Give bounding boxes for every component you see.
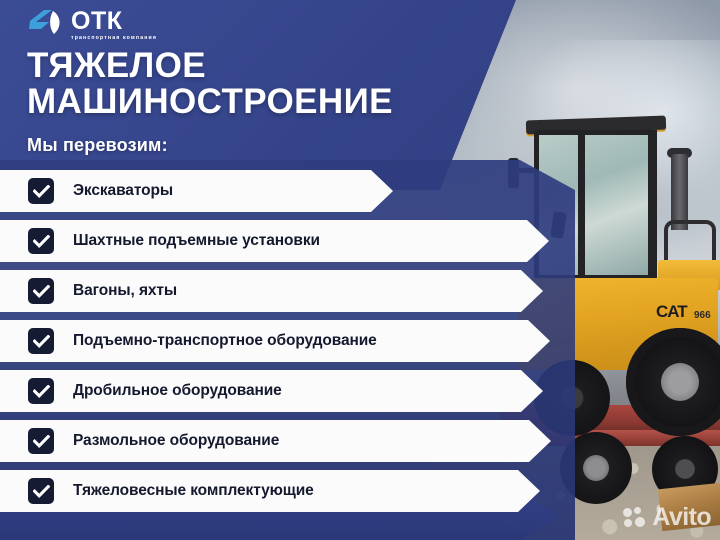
brand-tagline: транспортная компания xyxy=(71,35,157,41)
checklist-row[interactable]: Дробильное оборудование xyxy=(0,370,720,412)
headline-line-1: ТЯЖЕЛОЕ xyxy=(27,48,393,84)
checklist-row[interactable]: Размольное оборудование xyxy=(0,420,720,462)
check-mark-icon[interactable] xyxy=(28,278,54,304)
avito-wordmark: Avito xyxy=(652,505,711,530)
checklist-bar: Дробильное оборудование xyxy=(0,370,543,412)
checklist-label: Подъемно-транспортное оборудование xyxy=(73,332,377,350)
checklist-row[interactable]: Вагоны, яхты xyxy=(0,270,720,312)
checklist-row[interactable]: Тяжеловесные комплектующие xyxy=(0,470,720,512)
checklist-bar: Вагоны, яхты xyxy=(0,270,543,312)
checklist-label: Шахтные подъемные установки xyxy=(73,232,320,250)
otk-leaf-icon xyxy=(27,8,69,38)
checklist-label: Тяжеловесные комплектующие xyxy=(73,482,314,500)
avito-dots-icon xyxy=(623,507,649,529)
check-mark-icon[interactable] xyxy=(28,228,54,254)
brand-logo[interactable]: ОТК транспортная компания xyxy=(27,8,157,41)
check-mark-icon[interactable] xyxy=(28,378,54,404)
headline-line-2: МАШИНОСТРОЕНИЕ xyxy=(27,84,393,120)
checklist-label: Экскаваторы xyxy=(73,182,173,200)
check-mark-icon[interactable] xyxy=(28,328,54,354)
check-mark-icon[interactable] xyxy=(28,478,54,504)
checklist-label: Вагоны, яхты xyxy=(73,282,177,300)
page-title: ТЯЖЕЛОЕ МАШИНОСТРОЕНИЕ xyxy=(27,48,393,120)
check-mark-icon[interactable] xyxy=(28,178,54,204)
check-mark-icon[interactable] xyxy=(28,428,54,454)
avito-watermark: Avito xyxy=(623,505,711,530)
services-checklist: ЭкскаваторыШахтные подъемные установкиВа… xyxy=(0,170,720,520)
checklist-row[interactable]: Экскаваторы xyxy=(0,170,720,212)
checklist-row[interactable]: Шахтные подъемные установки xyxy=(0,220,720,262)
checklist-bar: Экскаваторы xyxy=(0,170,393,212)
checklist-bar: Размольное оборудование xyxy=(0,420,551,462)
poster-canvas: CAT 966 ОТК транспортная компания ТЯЖЕЛО… xyxy=(0,0,720,540)
subtitle: Мы перевозим: xyxy=(27,135,168,156)
checklist-bar: Подъемно-транспортное оборудование xyxy=(0,320,550,362)
checklist-bar: Шахтные подъемные установки xyxy=(0,220,549,262)
checklist-label: Размольное оборудование xyxy=(73,432,279,450)
checklist-label: Дробильное оборудование xyxy=(73,382,282,400)
checklist-row[interactable]: Подъемно-транспортное оборудование xyxy=(0,320,720,362)
brand-name: ОТК xyxy=(71,8,157,34)
checklist-bar: Тяжеловесные комплектующие xyxy=(0,470,540,512)
